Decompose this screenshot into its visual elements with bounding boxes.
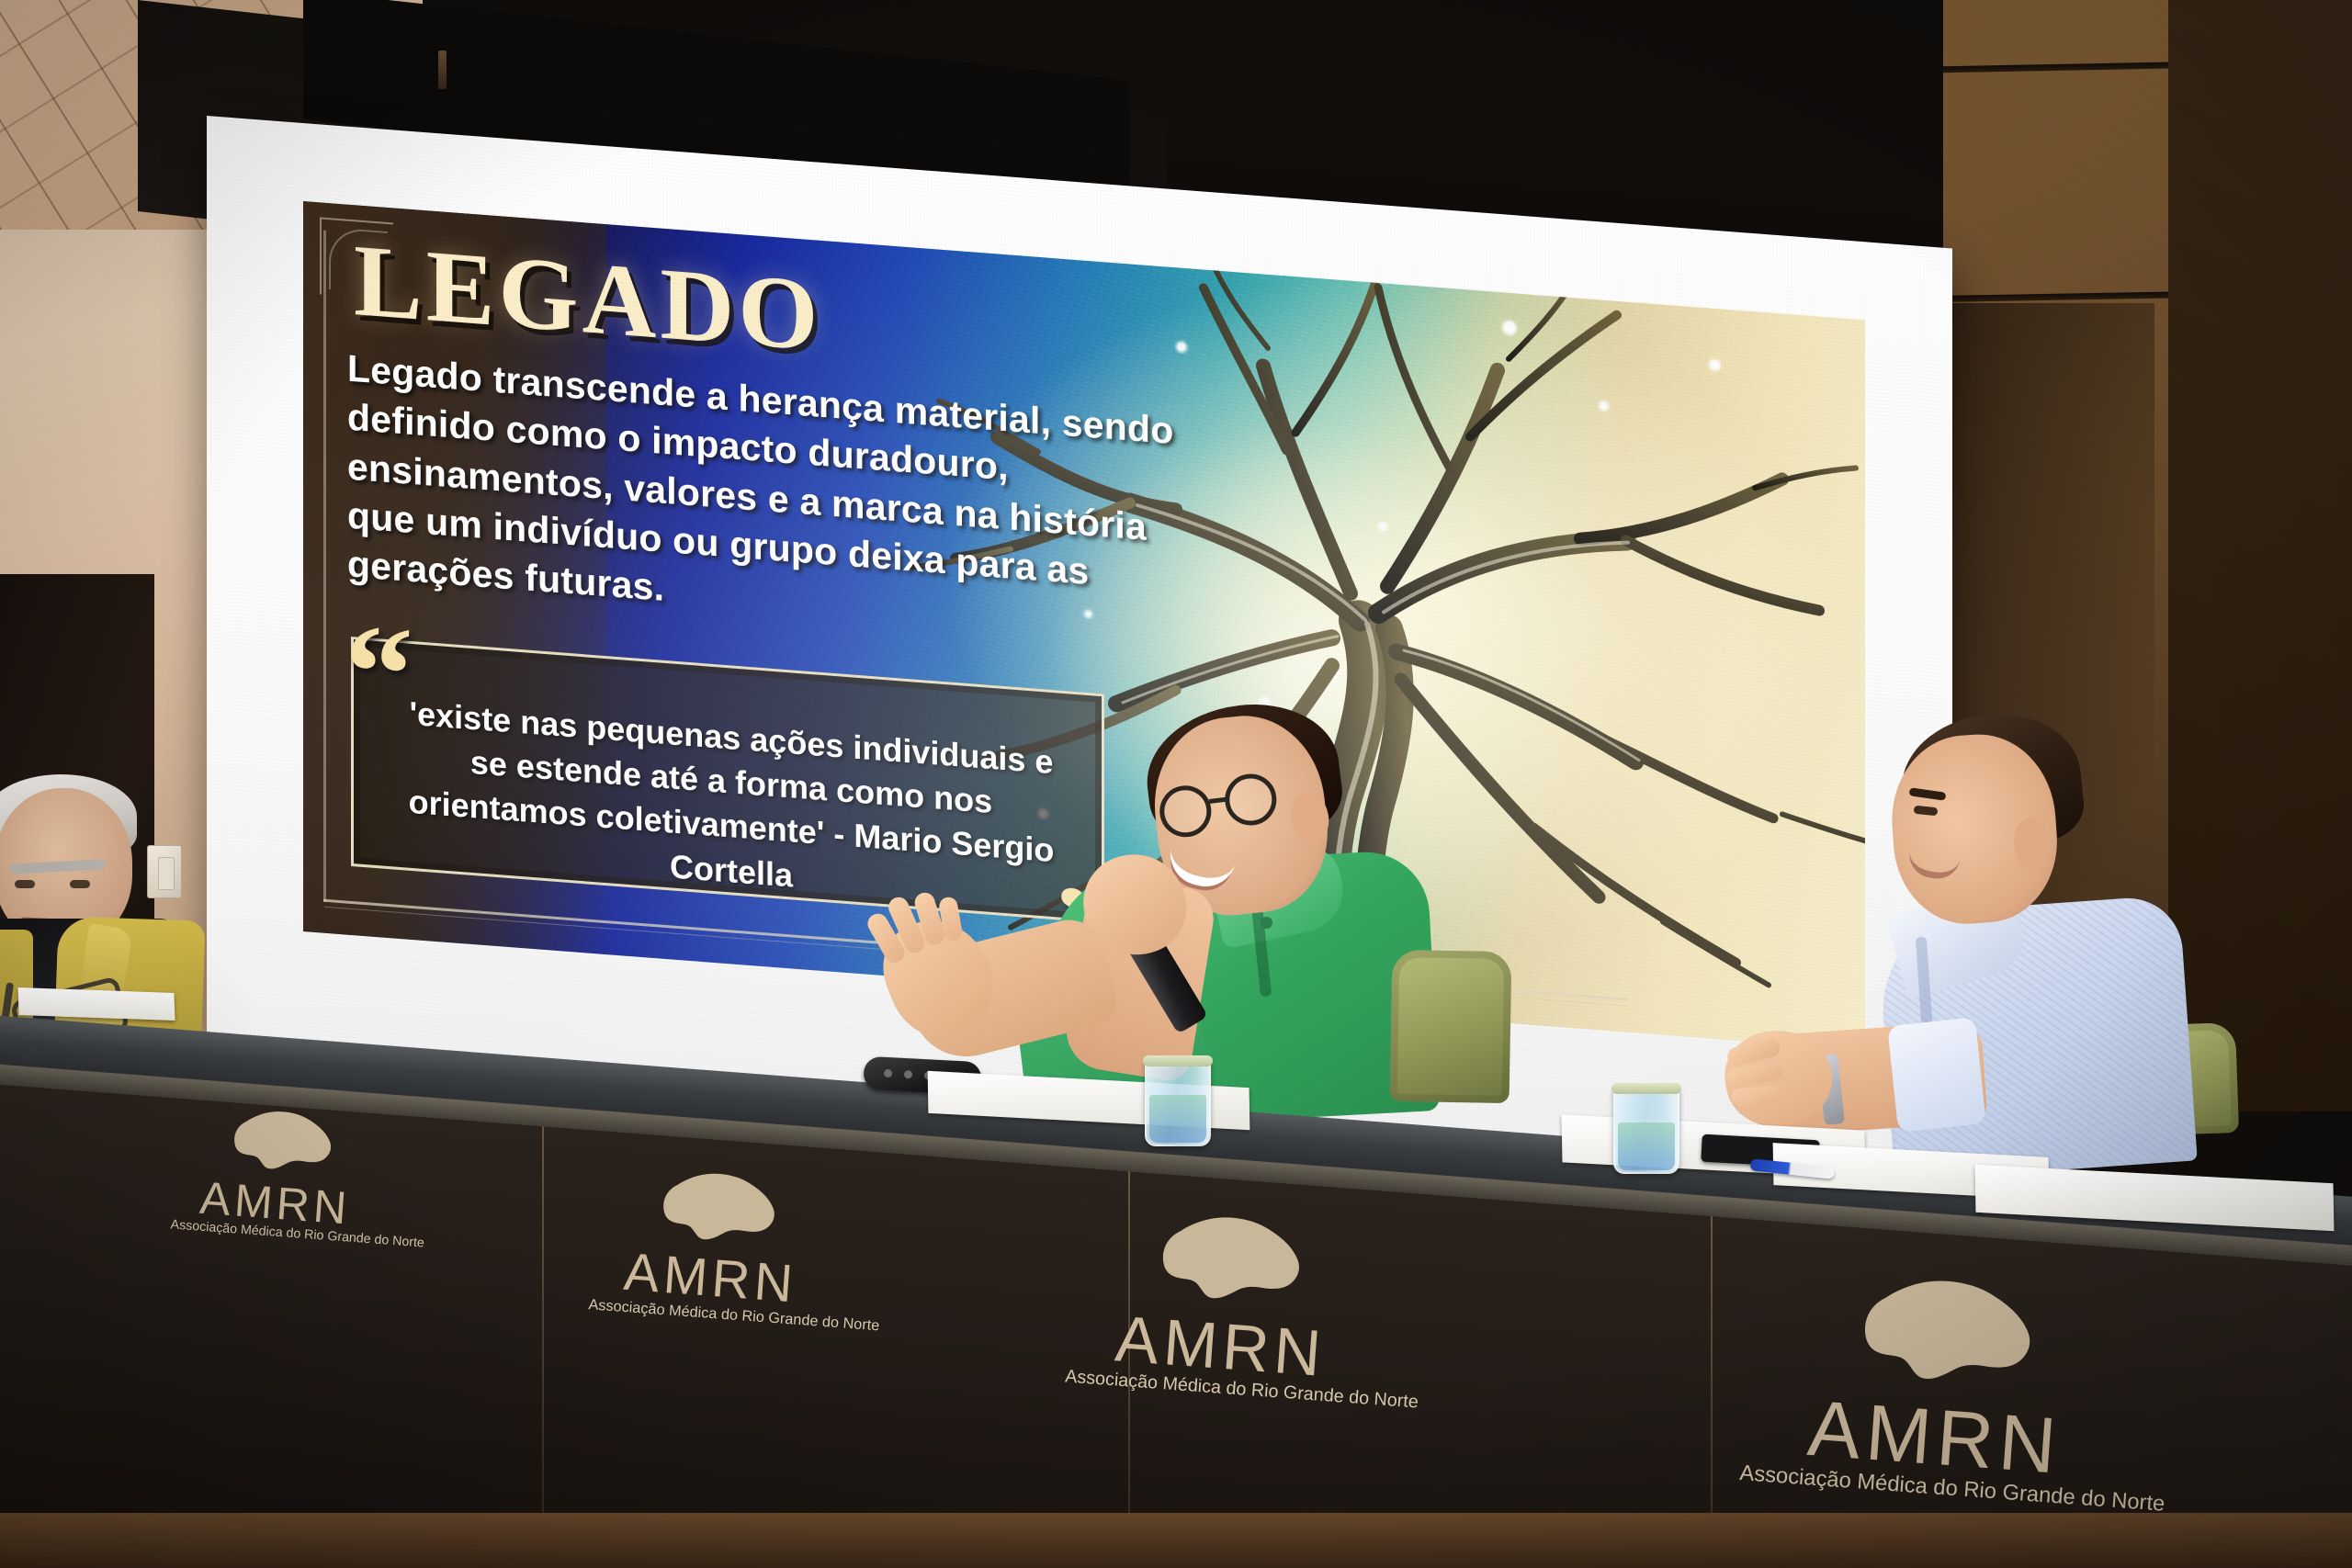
rio-grande-do-norte-map-icon (1837, 1261, 2048, 1405)
light-switch[interactable] (147, 845, 182, 898)
amrn-logo-3: AMRN Associação Médica do Rio Grande do … (1064, 1196, 1383, 1409)
polo-button (1261, 917, 1272, 929)
eye-left (15, 880, 35, 888)
ceiling-fixture (438, 51, 447, 89)
right-wall-dark (2168, 0, 2352, 1111)
eye-right (70, 880, 90, 888)
papers-left (18, 987, 175, 1021)
amrn-logo-2: AMRN Associação Médica do Rio Grande do … (588, 1156, 838, 1331)
rio-grande-do-norte-map-icon (1139, 1201, 1315, 1321)
chair-center[interactable] (1390, 950, 1512, 1103)
water-cup-center[interactable] (1145, 1058, 1211, 1146)
conference-photo-scene: LEGADO Legado transcende a herança mater… (0, 0, 2352, 1568)
water-cup-right[interactable] (1613, 1086, 1679, 1174)
floor (0, 1513, 2352, 1568)
rio-grande-do-norte-map-icon (218, 1100, 342, 1185)
shirt-cuff (1887, 1017, 1986, 1132)
amrn-logo-4: AMRN Associação Médica do Rio Grande do … (1738, 1255, 2138, 1515)
ear (2014, 818, 2049, 867)
amrn-logo-1: AMRN Associação Médica do Rio Grande do … (170, 1097, 385, 1247)
slide-left-rule (323, 231, 326, 902)
rio-grande-do-norte-map-icon (644, 1160, 786, 1258)
